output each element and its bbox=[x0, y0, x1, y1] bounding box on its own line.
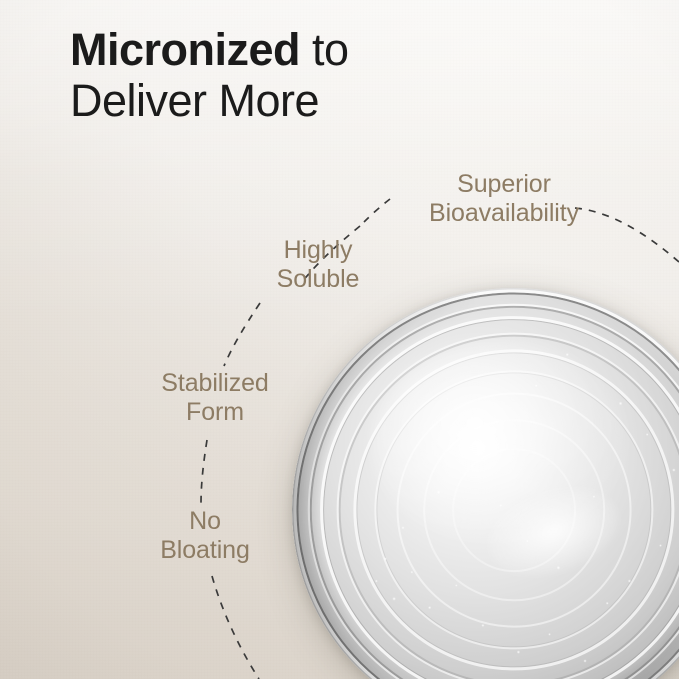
benefit-label-highly-soluble: Highly Soluble bbox=[248, 236, 388, 295]
page-title-line-2: Deliver More bbox=[70, 75, 630, 126]
page-title-emphasis: Micronized bbox=[70, 24, 300, 75]
benefit-label-superior-bioavailability: Superior Bioavailability bbox=[404, 170, 604, 229]
benefit-label-no-bloating: No Bloating bbox=[140, 507, 270, 566]
page-title-line-1-tail: to bbox=[300, 24, 349, 75]
marketing-graphic: Micronized to Deliver More Superior Bioa… bbox=[0, 0, 679, 679]
benefit-label-stabilized-form: Stabilized Form bbox=[142, 369, 288, 428]
page-title-line-1: Micronized to bbox=[70, 24, 630, 75]
page-title: Micronized to Deliver More bbox=[70, 24, 630, 127]
